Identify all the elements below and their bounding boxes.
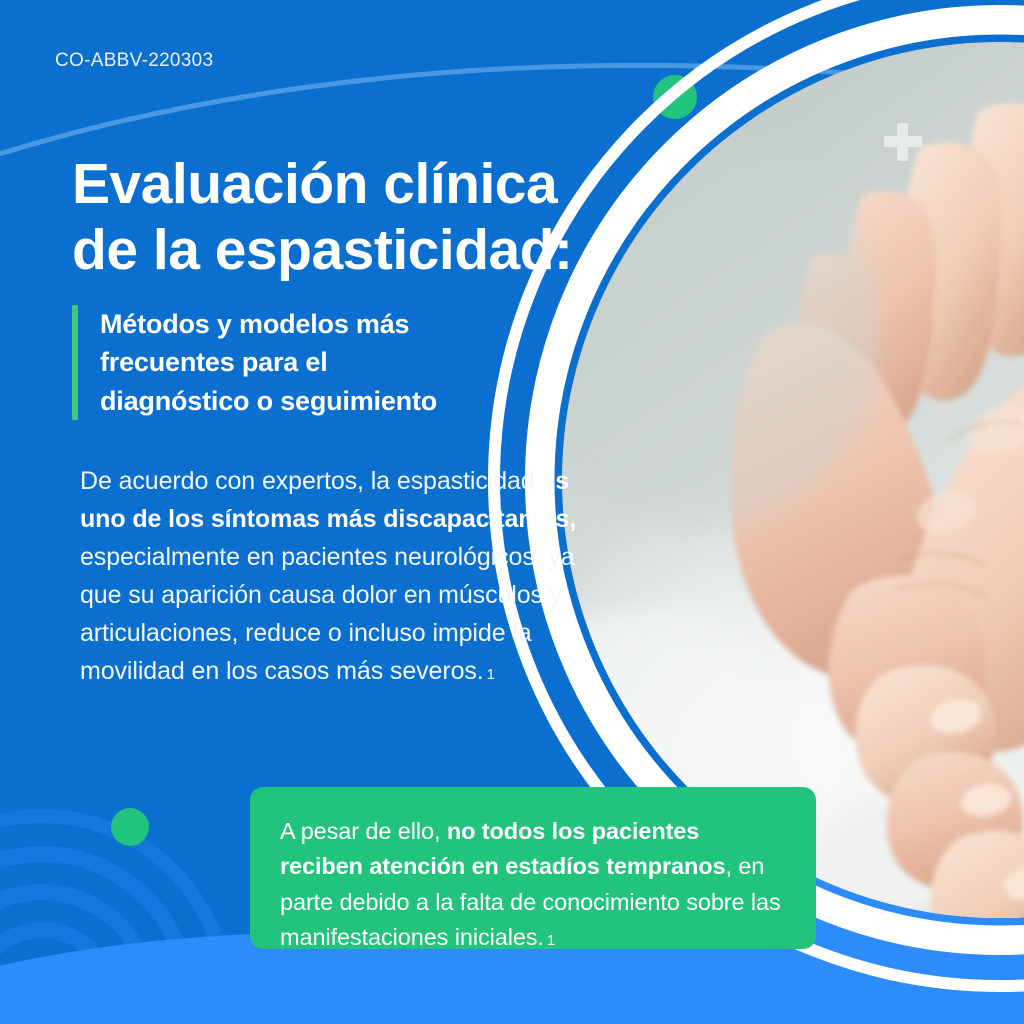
subheading-block: Métodos y modelos más frecuentes para el… bbox=[72, 305, 592, 420]
body-part-2: especialmente en pacientes neurológicos,… bbox=[80, 543, 575, 685]
callout-text: A pesar de ello, no todos los pacientes … bbox=[280, 814, 786, 955]
subheading-line-1: Métodos y modelos más bbox=[100, 305, 437, 343]
body-paragraph: De acuerdo con expertos, la espasticidad… bbox=[80, 462, 590, 690]
body-reference-number: 1 bbox=[484, 666, 495, 683]
subheading-line-3: diagnóstico o seguimiento bbox=[100, 382, 437, 420]
subheading-text: Métodos y modelos más frecuentes para el… bbox=[100, 305, 437, 420]
callout-reference-number: 1 bbox=[544, 932, 555, 949]
page-title: Evaluación clínica de la espasticidad: bbox=[72, 152, 672, 283]
subheading-line-2: frecuentes para el bbox=[100, 343, 437, 381]
callout-part-1: A pesar de ello, bbox=[280, 818, 447, 844]
headline-line-1: Evaluación clínica bbox=[72, 152, 557, 216]
green-dot-bottom bbox=[111, 808, 149, 846]
callout-box: A pesar de ello, no todos los pacientes … bbox=[250, 787, 816, 949]
green-accent-bar bbox=[72, 305, 78, 420]
headline-line-2: de la espasticidad: bbox=[72, 218, 672, 284]
body-part-1: De acuerdo con expertos, la espasticidad bbox=[80, 467, 541, 495]
infographic-canvas: CO-ABBV-220303 Evaluación clínica de la … bbox=[0, 0, 1024, 1024]
material-code: CO-ABBV-220303 bbox=[55, 50, 213, 72]
